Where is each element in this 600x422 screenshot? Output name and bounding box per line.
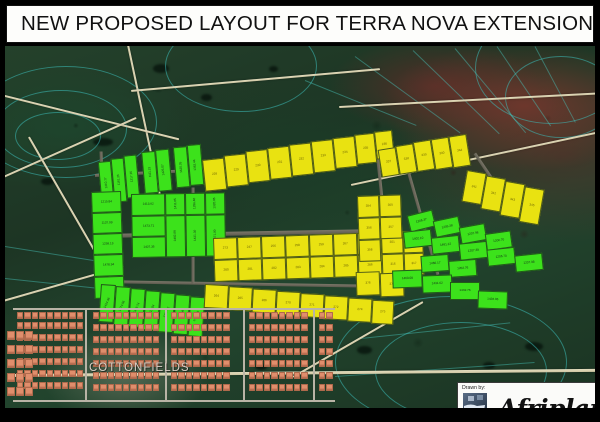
parcel-label: 256 (271, 245, 276, 248)
map-canvas: 1210.77 1181.26 1217.36 1111.23 1425.07 … (5, 46, 595, 408)
parcel-label: 234 (342, 151, 347, 155)
house (108, 312, 114, 319)
house (25, 359, 33, 368)
house (249, 324, 255, 331)
parcel-label: 1473.71 (143, 225, 154, 228)
house (249, 336, 255, 343)
house (223, 360, 229, 367)
house (39, 322, 45, 329)
house (264, 384, 270, 391)
parcel[interactable]: 1460.08 (392, 269, 423, 288)
parcel-label: 1420.35 (180, 161, 184, 172)
parcel[interactable]: 1460.17 (420, 254, 449, 273)
house (249, 360, 255, 367)
parcel-label: 265 (238, 297, 243, 300)
house (171, 348, 177, 355)
house (171, 324, 177, 331)
house-row (319, 384, 333, 391)
parcel-label: 357 (388, 226, 393, 229)
house (62, 312, 68, 319)
house (77, 346, 83, 353)
house (279, 372, 285, 379)
house (93, 336, 99, 343)
parcel[interactable]: 355 (379, 194, 402, 217)
house (279, 336, 285, 343)
parcel[interactable]: 1431.30 (185, 215, 206, 257)
house (326, 360, 332, 367)
parcel-label: 283 (295, 266, 300, 269)
parcel[interactable]: 258 (285, 235, 310, 258)
house-row (249, 336, 308, 343)
house (138, 312, 144, 319)
house (256, 348, 262, 355)
parcel[interactable]: 1207.39 (459, 241, 489, 261)
parcel[interactable]: 283 (286, 257, 311, 280)
house (216, 348, 222, 355)
house (319, 336, 325, 343)
house (256, 312, 262, 319)
house (193, 324, 199, 331)
house (216, 384, 222, 391)
parcel-label: 280 (223, 269, 228, 272)
house (69, 312, 75, 319)
parcel[interactable]: 1413.62 (131, 193, 165, 216)
house (264, 360, 270, 367)
house (178, 384, 184, 391)
parcel[interactable]: 1206.70 (486, 247, 516, 267)
parcel[interactable]: 376 (356, 271, 381, 296)
house (54, 312, 60, 319)
parcel[interactable]: 357 (380, 216, 403, 239)
parcel-label: 376 (365, 282, 370, 285)
parcel-label: 1382.44 (193, 159, 197, 170)
house (193, 336, 199, 343)
parcel-label: 356 (366, 227, 371, 230)
existing-housing-west (7, 331, 59, 405)
house-row (319, 336, 333, 343)
parcel-label: 264 (214, 295, 219, 298)
house (123, 348, 129, 355)
house (17, 322, 23, 329)
parcel-label: 1460.17 (429, 262, 440, 266)
house (7, 331, 15, 340)
house (108, 336, 114, 343)
house (32, 322, 38, 329)
house (39, 312, 45, 319)
house (171, 336, 177, 343)
parcel[interactable]: 1259.13 (92, 233, 123, 255)
house (319, 372, 325, 379)
parcel-label: 1402.10 (412, 237, 423, 241)
aerial-map: 1210.77 1181.26 1217.36 1111.23 1425.07 … (5, 46, 595, 408)
parcel[interactable]: 1482.09 (165, 215, 186, 257)
parcel[interactable]: 1202.76 (448, 259, 477, 278)
house (16, 387, 24, 396)
house-row (7, 387, 33, 396)
house (301, 384, 307, 391)
house (77, 322, 83, 329)
house (77, 334, 83, 341)
parcel-label: 344 (457, 149, 463, 153)
house (130, 348, 136, 355)
parcel[interactable]: 354 (357, 195, 380, 218)
parcel-label: 1259.13 (102, 242, 113, 245)
house (171, 384, 177, 391)
house (25, 345, 33, 354)
house (271, 312, 277, 319)
parcel-label: 1428.96 (487, 298, 498, 301)
house (171, 312, 177, 319)
house-row (249, 372, 308, 379)
parcel[interactable]: 284 (310, 256, 335, 279)
parcel-label: 341 (471, 186, 477, 190)
house (77, 370, 83, 377)
house (216, 372, 222, 379)
parcel[interactable]: 1137.99 (92, 212, 123, 234)
house (62, 322, 68, 329)
house (301, 348, 307, 355)
house (108, 324, 114, 331)
parcel[interactable]: 282 (262, 257, 287, 280)
house-row (93, 348, 159, 355)
house (115, 312, 121, 319)
house (54, 322, 60, 329)
parcel-label: 236 (382, 143, 387, 147)
house-row (249, 384, 308, 391)
house (77, 382, 83, 389)
house (25, 373, 33, 382)
parcel-label: 1210.77 (104, 178, 108, 189)
house (249, 312, 255, 319)
house (100, 324, 106, 331)
house (249, 384, 255, 391)
parcel[interactable]: 1432.76 (450, 282, 480, 300)
parcel[interactable]: 356 (358, 217, 381, 240)
house (193, 312, 199, 319)
house (123, 336, 129, 343)
house (319, 384, 325, 391)
township-street (243, 308, 245, 402)
parcel-label: 258 (295, 244, 300, 247)
house (201, 348, 207, 355)
house (130, 312, 136, 319)
parcel-label: 275 (380, 311, 385, 314)
house (32, 312, 38, 319)
parcel-label: 281 (247, 268, 252, 271)
parcel-label: 317 (411, 262, 416, 265)
parcel-label: 339 (421, 154, 427, 158)
parcel-label: 271 (309, 304, 314, 307)
house (294, 384, 300, 391)
house (153, 348, 159, 355)
parcel-label: 1202.76 (457, 266, 468, 270)
parcel[interactable]: 1428.96 (477, 290, 508, 309)
parcel-label: 354 (366, 205, 371, 208)
house (7, 387, 15, 396)
parcel-label: 266 (262, 299, 267, 302)
parcel[interactable]: 358 (359, 239, 382, 262)
house (294, 324, 300, 331)
house (17, 312, 23, 319)
parcel[interactable]: 273 (213, 237, 238, 260)
parcel-label: 1432.76 (459, 289, 470, 292)
house (186, 348, 192, 355)
parcel-label: 1431.62 (432, 282, 443, 285)
parcel-label: 1411.05 (174, 199, 177, 210)
house (62, 370, 68, 377)
house (294, 372, 300, 379)
house (279, 360, 285, 367)
house (256, 372, 262, 379)
house (145, 336, 151, 343)
house (294, 348, 300, 355)
house (130, 324, 136, 331)
house (69, 382, 75, 389)
parcel-label: 286 (367, 264, 372, 267)
house (201, 384, 207, 391)
house (223, 312, 229, 319)
africa-silhouette-icon (461, 392, 501, 408)
house (186, 336, 192, 343)
parcel-label: 340 (439, 151, 445, 155)
house (301, 360, 307, 367)
house (208, 372, 214, 379)
parcel-label: 270 (285, 302, 290, 305)
parcel-label: 230 (255, 164, 260, 168)
drawn-by-label: Drawn by: (462, 385, 485, 391)
parcel-label: 337 (386, 160, 392, 164)
house (223, 348, 229, 355)
house (271, 360, 277, 367)
house (93, 324, 99, 331)
drawn-by-logo-box: Drawn by: Afriplan (457, 382, 595, 408)
township-name-label: COTTONFIELDS (89, 362, 190, 374)
house (16, 345, 24, 354)
house (69, 370, 75, 377)
house (93, 384, 99, 391)
house (145, 312, 151, 319)
house (208, 336, 214, 343)
house-row (17, 322, 83, 329)
house (216, 312, 222, 319)
house (47, 312, 53, 319)
house (256, 336, 262, 343)
layout-plan-image: NEW PROPOSED LAYOUT FOR TERRA NOVA EXTEN… (0, 0, 600, 422)
house (256, 360, 262, 367)
house-row (7, 331, 33, 340)
township-street (165, 308, 167, 402)
house (69, 358, 75, 365)
parcel-label: 343 (510, 198, 516, 202)
house (326, 312, 332, 319)
house (16, 331, 24, 340)
house (25, 387, 33, 396)
house-row (7, 359, 33, 368)
house (249, 372, 255, 379)
parcel[interactable]: 259 (309, 234, 334, 257)
house (223, 384, 229, 391)
house (153, 336, 159, 343)
house (319, 312, 325, 319)
parcel-label: 355 (388, 204, 393, 207)
house-row (249, 324, 308, 331)
parcel-label: 282 (271, 267, 276, 270)
house (208, 324, 214, 331)
house (201, 360, 207, 367)
parcel-label: 1111.23 (148, 167, 152, 178)
parcel-label: 1413.62 (143, 203, 154, 206)
house-row (171, 324, 230, 331)
house (62, 358, 68, 365)
parcel-label: 1320.85 (214, 198, 217, 209)
house (115, 336, 121, 343)
parcel-label: 1206.70 (495, 255, 506, 259)
house (301, 324, 307, 331)
house (100, 348, 106, 355)
house (286, 324, 292, 331)
parcel-label: 1425.07 (162, 165, 166, 176)
parcel-label: 1206.38 (441, 224, 453, 229)
house (216, 324, 222, 331)
parcel[interactable]: 1286.40 (185, 193, 205, 215)
parcel-label: 1217.36 (130, 171, 134, 182)
parcel[interactable]: 275 (371, 300, 394, 325)
house (153, 324, 159, 331)
parcel[interactable]: 1320.85 (205, 192, 225, 214)
house (186, 324, 192, 331)
house (115, 384, 121, 391)
house (178, 324, 184, 331)
house (286, 348, 292, 355)
house (7, 359, 15, 368)
parcel[interactable]: 281 (238, 258, 263, 281)
house (264, 312, 270, 319)
house (145, 324, 151, 331)
house (223, 336, 229, 343)
house (145, 384, 151, 391)
house (130, 336, 136, 343)
parcel[interactable]: 1407.35 (132, 236, 166, 258)
parcel-label: 342 (490, 192, 496, 196)
parcel-label: 1207.98 (523, 261, 534, 265)
house (271, 384, 277, 391)
parcel-label: 1207.98 (467, 231, 479, 236)
house (138, 324, 144, 331)
parcel[interactable]: 1207.98 (514, 253, 544, 273)
house (138, 336, 144, 343)
house-row (249, 348, 308, 355)
parcel[interactable]: 1411.05 (165, 193, 185, 215)
page-title: NEW PROPOSED LAYOUT FOR TERRA NOVA EXTEN… (7, 12, 600, 36)
parcel-label: 1461.22 (440, 243, 451, 247)
parcel[interactable]: 234 (332, 136, 357, 169)
house (326, 372, 332, 379)
parcel-label: 338 (404, 157, 410, 161)
parcel[interactable]: 264 (204, 284, 229, 309)
house (286, 372, 292, 379)
house (100, 384, 106, 391)
parcel-label: 259 (319, 244, 324, 247)
house (223, 324, 229, 331)
house-row (7, 345, 33, 354)
house-row (17, 312, 83, 319)
parcel-label: 226 (212, 173, 217, 177)
parcel[interactable]: 280 (214, 259, 239, 282)
house (256, 384, 262, 391)
house (208, 348, 214, 355)
parcel-label: 1460.08 (402, 277, 413, 280)
house (69, 346, 75, 353)
house (115, 348, 121, 355)
house (123, 312, 129, 319)
house (201, 312, 207, 319)
house (286, 384, 292, 391)
parcel-label: 273 (223, 247, 228, 250)
township-street (85, 308, 87, 402)
house (201, 336, 207, 343)
house (186, 312, 192, 319)
house (24, 322, 30, 329)
parcel[interactable]: 1431.62 (422, 275, 453, 294)
house-row (319, 312, 333, 319)
parcel-label: 274 (357, 308, 362, 311)
parcel-label: 229 (234, 169, 239, 173)
house (294, 336, 300, 343)
parcel[interactable]: 1473.71 (131, 215, 165, 237)
parcel[interactable]: 267 (333, 233, 358, 256)
house (326, 336, 332, 343)
parcel-label: 1207.39 (468, 249, 479, 253)
parcel-label: 345 (529, 204, 535, 208)
parcel[interactable]: 274 (347, 298, 372, 323)
house (208, 384, 214, 391)
house-row (171, 348, 230, 355)
house (178, 348, 184, 355)
house (100, 312, 106, 319)
house (193, 360, 199, 367)
parcel[interactable]: 256 (261, 235, 286, 258)
house (7, 373, 15, 382)
house (16, 359, 24, 368)
township-street (13, 400, 335, 402)
house-row (171, 384, 230, 391)
house (271, 324, 277, 331)
house-row (93, 336, 159, 343)
parcel[interactable]: 247 (237, 236, 262, 259)
parcel[interactable]: 1402.10 (403, 229, 433, 249)
house (16, 373, 24, 382)
township-street (13, 308, 335, 310)
house-row (319, 324, 333, 331)
house-row (93, 312, 159, 319)
house (123, 324, 129, 331)
parcel-label: 1137.99 (102, 221, 113, 224)
parcel-label: 1407.35 (143, 246, 154, 249)
parcel-label: 1482.09 (174, 231, 177, 242)
house (62, 346, 68, 353)
parcel-label: 1206.37 (416, 218, 428, 224)
parcel[interactable]: 1461.22 (431, 235, 461, 255)
house-row (93, 384, 159, 391)
house (319, 360, 325, 367)
parcel[interactable]: 1478.94 (93, 254, 124, 277)
parcel[interactable]: 1215.84 (91, 191, 122, 213)
house (264, 348, 270, 355)
parcel-label: 285 (343, 265, 348, 268)
parcel-label: 1206.70 (493, 238, 505, 243)
house-row (249, 360, 308, 367)
house-row (7, 373, 33, 382)
